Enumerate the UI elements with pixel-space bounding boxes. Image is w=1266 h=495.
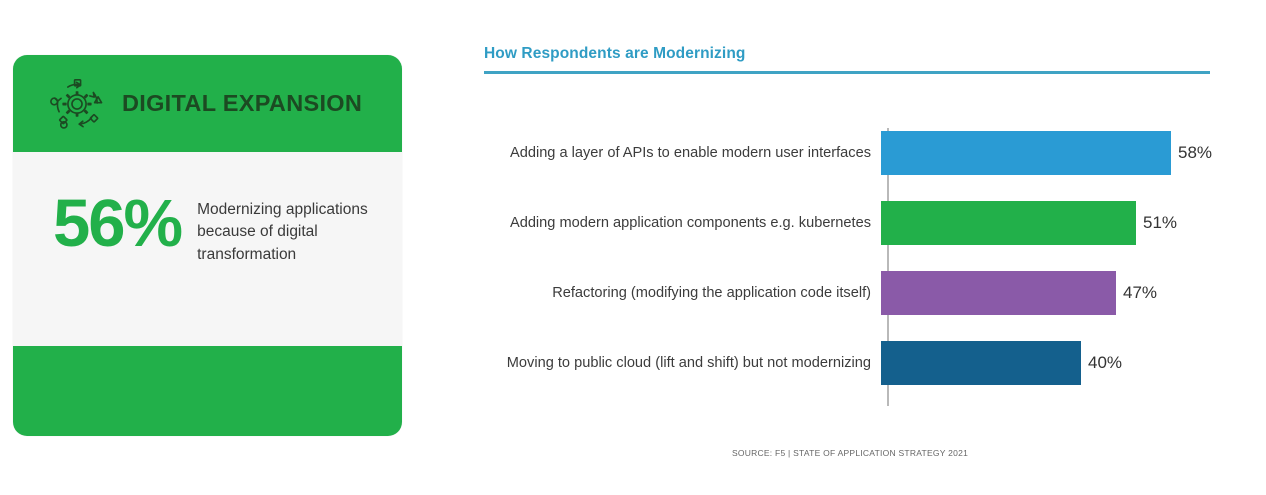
bar-label: Refactoring (modifying the application c…	[470, 285, 879, 301]
bar-row: Moving to public cloud (lift and shift) …	[470, 340, 1230, 386]
card-title: DIGITAL EXPANSION	[122, 90, 362, 117]
card-body: 56% Modernizing applications because of …	[13, 152, 402, 346]
chart-source-note: SOURCE: F5 | STATE OF APPLICATION STRATE…	[470, 448, 1230, 458]
bar-fill-3	[881, 341, 1081, 385]
bar-track: 40%	[879, 340, 1230, 386]
bar-label: Adding modern application components e.g…	[470, 215, 879, 231]
bar-fill-2	[881, 271, 1116, 315]
chart-title: How Respondents are Modernizing	[470, 45, 1230, 63]
bar-value: 58%	[1178, 143, 1212, 163]
stat-description: Modernizing applications because of digi…	[197, 193, 382, 266]
card-footer	[13, 346, 402, 436]
title-underline-rule	[484, 71, 1210, 74]
bar-row: Refactoring (modifying the application c…	[470, 270, 1230, 316]
card-header: DIGITAL EXPANSION	[13, 55, 402, 152]
bar-label: Moving to public cloud (lift and shift) …	[470, 355, 879, 371]
bar-row: Adding a layer of APIs to enable modern …	[470, 130, 1230, 176]
bar-track: 47%	[879, 270, 1230, 316]
bar-value: 47%	[1123, 283, 1157, 303]
bar-fill-1	[881, 201, 1136, 245]
bar-fill-0	[881, 131, 1171, 175]
bar-label: Adding a layer of APIs to enable modern …	[470, 145, 879, 161]
bar-value: 51%	[1143, 213, 1177, 233]
bar-track: 58%	[879, 130, 1230, 176]
bar-chart: Adding a layer of APIs to enable modern …	[470, 128, 1230, 414]
bar-row: Adding modern application components e.g…	[470, 200, 1230, 246]
stat-value: 56%	[53, 193, 181, 255]
gear-cycle-icon	[46, 75, 108, 133]
digital-expansion-card: DIGITAL EXPANSION 56% Modernizing applic…	[13, 55, 402, 436]
bar-track: 51%	[879, 200, 1230, 246]
chart-panel: How Respondents are Modernizing Adding a…	[470, 45, 1230, 475]
bar-value: 40%	[1088, 353, 1122, 373]
